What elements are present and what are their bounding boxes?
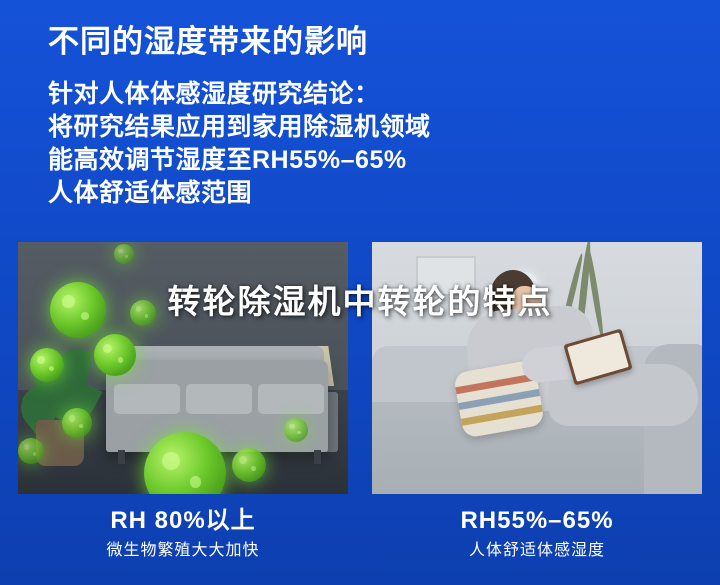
body-line-4: 人体舒适体感范围 <box>48 177 678 210</box>
page-title: 不同的湿度带来的影响 <box>48 16 368 61</box>
caption-left-sub: 微生物繁殖大大加快 <box>18 540 348 562</box>
sofa-cushion <box>186 384 252 414</box>
microbe-icon <box>232 448 266 482</box>
photo-right-person <box>372 242 702 494</box>
body-line-3: 能高效调节湿度至RH55%–65% <box>48 144 678 177</box>
sofa-leg <box>314 450 321 464</box>
caption-row: RH 80%以上 微生物繁殖大大加快 RH55%–65% 人体舒适体感湿度 <box>18 506 702 562</box>
microbe-icon <box>94 334 136 376</box>
photo-left-microbes <box>18 242 348 494</box>
caption-right-sub: 人体舒适体感湿度 <box>372 540 702 562</box>
photo-row <box>18 242 702 494</box>
microbe-icon <box>130 300 156 326</box>
caption-left: RH 80%以上 微生物繁殖大大加快 <box>18 506 348 562</box>
wall-art <box>416 256 476 296</box>
poster-root: 不同的湿度带来的影响 针对人体体感湿度研究结论： 将研究结果应用到家用除湿机领域… <box>0 0 720 585</box>
microbe-icon <box>50 282 106 338</box>
microbe-icon <box>30 348 64 382</box>
microbe-icon <box>18 438 44 464</box>
room-background <box>18 242 348 494</box>
body-line-2: 将研究结果应用到家用除湿机领域 <box>48 111 678 144</box>
body-line-1: 针对人体体感湿度研究结论： <box>48 78 678 111</box>
caption-right: RH55%–65% 人体舒适体感湿度 <box>372 506 702 562</box>
microbe-icon <box>62 408 92 438</box>
microbe-icon <box>114 244 134 264</box>
body-text-block: 针对人体体感湿度研究结论： 将研究结果应用到家用除湿机领域 能高效调节湿度至RH… <box>48 78 678 210</box>
caption-right-main: RH55%–65% <box>372 506 702 536</box>
caption-left-main: RH 80%以上 <box>18 506 348 536</box>
sofa-cushion <box>114 384 180 414</box>
sofa-leg <box>118 450 125 464</box>
living-room-background <box>372 242 702 494</box>
sofa-cushion <box>258 384 324 414</box>
pillow-stripe <box>461 405 543 426</box>
microbe-icon <box>284 418 308 442</box>
